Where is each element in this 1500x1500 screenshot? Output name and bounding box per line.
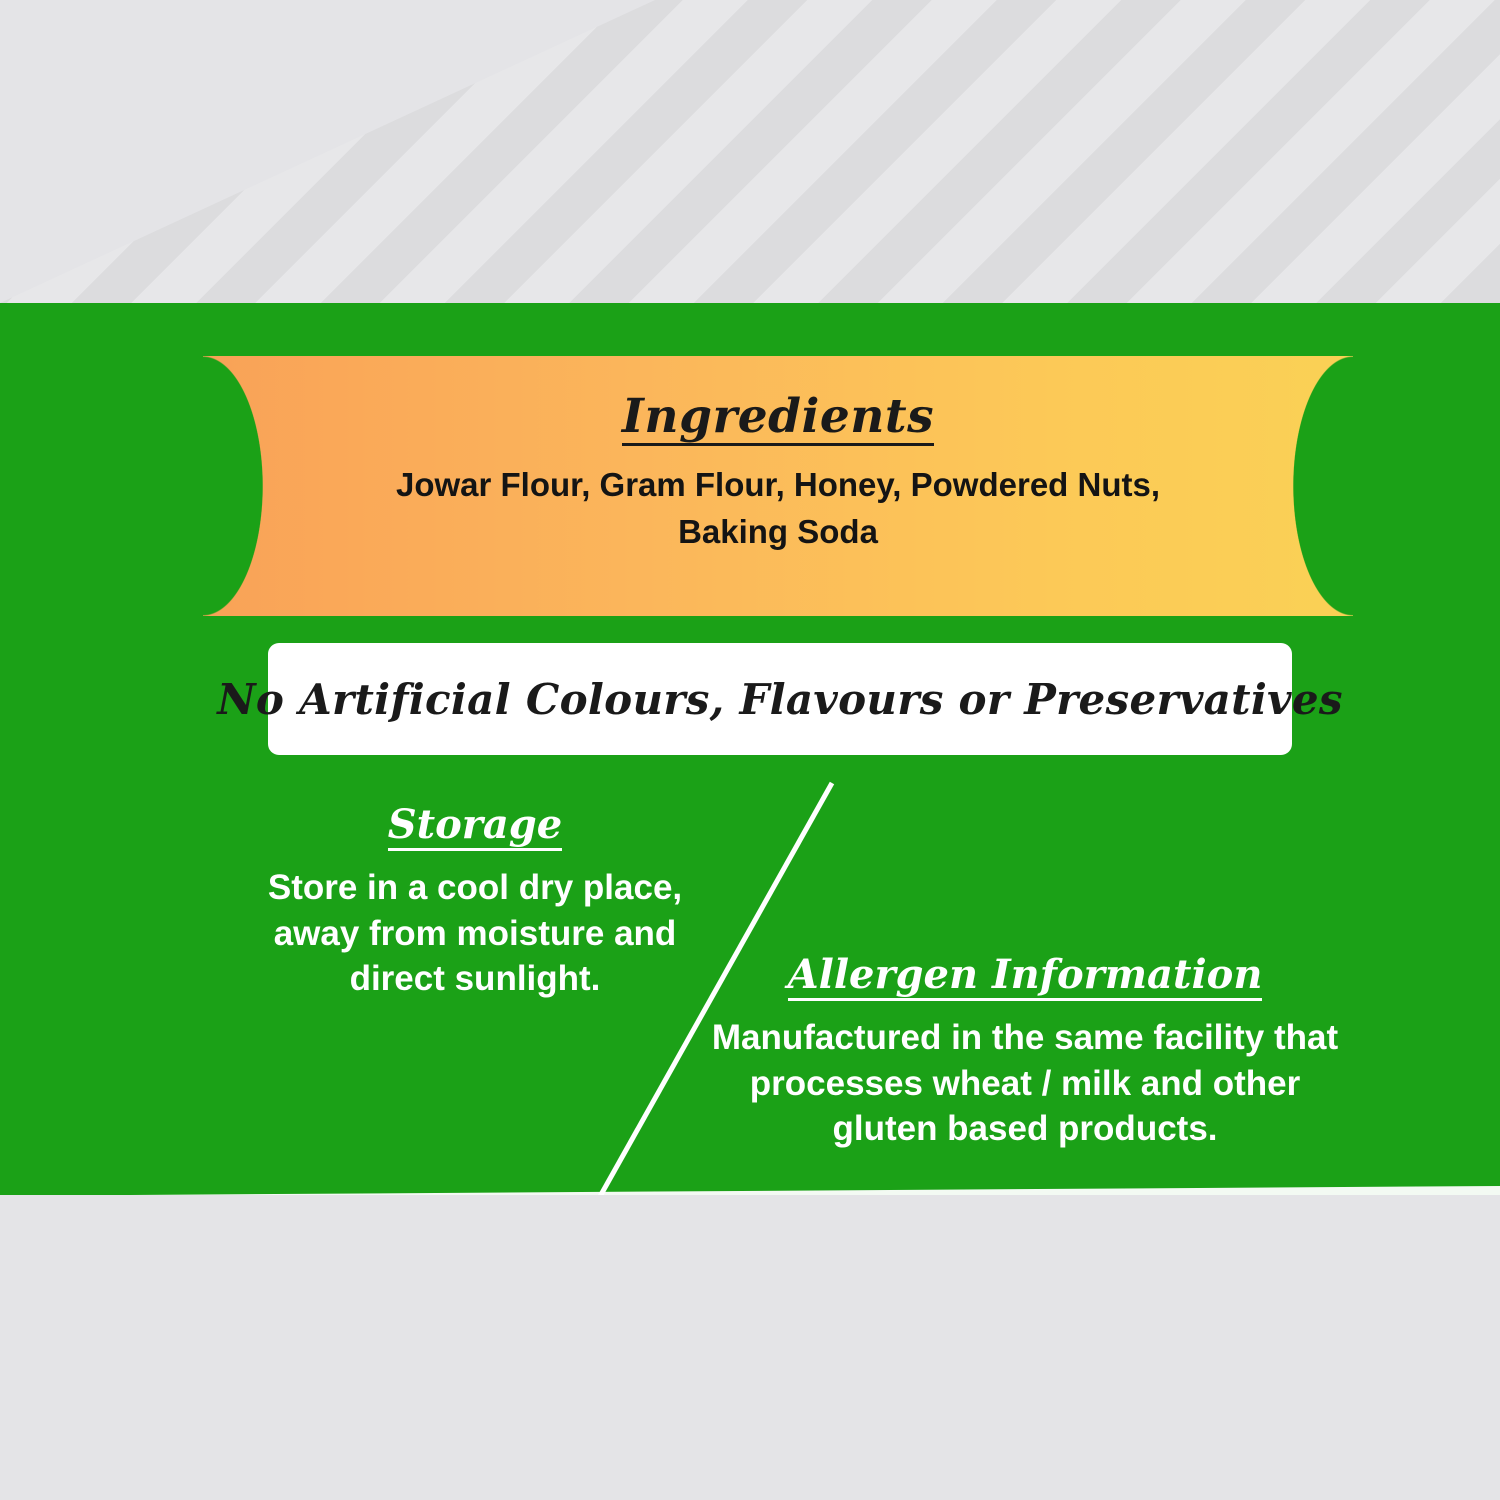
green-info-panel: Ingredients Jowar Flour, Gram Flour, Hon… xyxy=(0,303,1500,1195)
storage-body: Store in a cool dry place, away from moi… xyxy=(240,865,710,1002)
allergen-heading: Allergen Information xyxy=(788,953,1263,1001)
storage-heading: Storage xyxy=(388,803,562,851)
storage-section: Storage Store in a cool dry place, away … xyxy=(240,803,710,1002)
no-artificial-claim-box: No Artificial Colours, Flavours or Prese… xyxy=(268,643,1292,755)
no-artificial-claim-text: No Artificial Colours, Flavours or Prese… xyxy=(217,675,1343,724)
ingredients-list: Jowar Flour, Gram Flour, Honey, Powdered… xyxy=(368,462,1188,556)
panel-bottom-edge xyxy=(130,1186,1500,1195)
ingredients-ribbon: Ingredients Jowar Flour, Gram Flour, Hon… xyxy=(203,356,1353,616)
ingredients-heading: Ingredients xyxy=(622,392,934,446)
allergen-section: Allergen Information Manufactured in the… xyxy=(700,953,1350,1152)
diagonal-stripe-pattern xyxy=(0,0,1500,303)
allergen-body: Manufactured in the same facility that p… xyxy=(700,1015,1350,1152)
